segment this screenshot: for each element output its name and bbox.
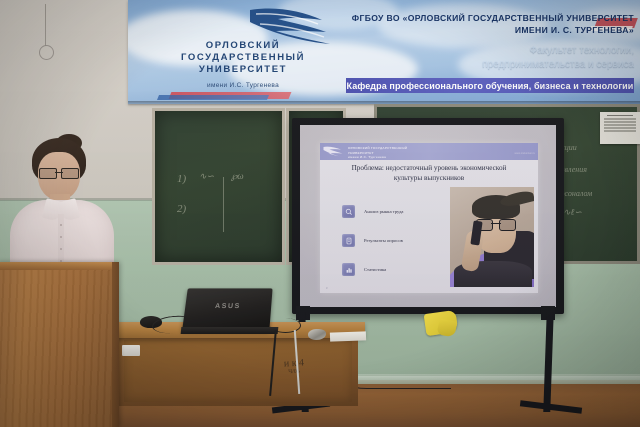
slide-bullet-label: Статистика bbox=[364, 267, 386, 272]
slide-bullet-item: Анализ рынка труда bbox=[342, 205, 452, 218]
logo-blue-accent bbox=[157, 95, 269, 100]
chalk-scribble: ℘ω bbox=[231, 171, 244, 182]
classroom-photo-scene: ОРЛОВСКИЙ ГОСУДАРСТВЕННЫЙ УНИВЕРСИТЕТ им… bbox=[0, 0, 640, 427]
slide-bullet-label: Результаты опросов bbox=[364, 238, 403, 243]
desk-panel bbox=[124, 340, 352, 402]
notice-line bbox=[604, 130, 636, 131]
magnifier-icon bbox=[342, 205, 355, 218]
logo-subtitle: имени И.С. Тургенева bbox=[132, 82, 354, 89]
laptop-base bbox=[181, 327, 279, 334]
slide-title-line-1: Проблема: недостаточный уровень экономич… bbox=[328, 163, 530, 173]
banner-title-line-1: ФГБОУ ВО «ОРЛОВСКИЙ ГОСУДАРСТВЕННЫЙ УНИВ… bbox=[338, 12, 634, 24]
notice-title-line bbox=[607, 115, 633, 116]
logo-line-2: ГОСУДАРСТВЕННЫЙ bbox=[132, 52, 354, 64]
presenter-lens-right bbox=[61, 168, 79, 179]
podium-wood-grain bbox=[0, 262, 118, 427]
chalk-mark: 1) bbox=[177, 173, 186, 185]
slide-bullet-label: Анализ рынка труда bbox=[364, 209, 403, 214]
woman-presenter bbox=[8, 138, 116, 278]
photo-lens-right bbox=[499, 219, 516, 231]
logo-line-1: ОРЛОВСКИЙ bbox=[132, 40, 354, 52]
slide-bullet-item: Результаты опросов bbox=[342, 234, 452, 247]
slide-bullet-list: Анализ рынка труда Результаты опросов bbox=[342, 205, 452, 292]
banner-department-bar: Кафедра профессионального обучения, бизн… bbox=[346, 78, 634, 93]
notice-line bbox=[604, 121, 636, 122]
university-banner: ОРЛОВСКИЙ ГОСУДАРСТВЕННЫЙ УНИВЕРСИТЕТ им… bbox=[128, 0, 640, 104]
banner-title-line-2: ИМЕНИ И. С. ТУРГЕНЕВА» bbox=[338, 24, 634, 36]
slide-header: ОРЛОВСКИЙ ГОСУДАРСТВЕННЫЙ УНИВЕРСИТЕТ им… bbox=[320, 143, 538, 160]
notice-line bbox=[604, 127, 636, 128]
slide-title-line-2: культуры выпускников bbox=[328, 173, 530, 183]
university-logo-text: ОРЛОВСКИЙ ГОСУДАРСТВЕННЫЙ УНИВЕРСИТЕТ bbox=[132, 40, 354, 76]
laptop-brand-label: ASUS bbox=[215, 303, 242, 310]
projection-screen[interactable]: ОРЛОВСКИЙ ГОСУДАРСТВЕННЫЙ УНИВЕРСИТЕТ им… bbox=[292, 118, 564, 314]
slide-photo bbox=[450, 187, 534, 287]
podium-top-edge bbox=[0, 262, 118, 270]
slide-title: Проблема: недостаточный уровень экономич… bbox=[328, 163, 530, 184]
slide-url: www.oreluniver.ru bbox=[515, 152, 535, 155]
logo-line-3: УНИВЕРСИТЕТ bbox=[132, 64, 354, 76]
chalkboard-left: 1) 2) ∿∽ ℘ω bbox=[152, 108, 285, 265]
chalk-line bbox=[223, 177, 224, 232]
notice-line bbox=[604, 118, 636, 119]
white-box-object[interactable] bbox=[122, 345, 140, 356]
slide-bullet-item: Статистика bbox=[342, 263, 452, 276]
presentation-slide: ОРЛОВСКИЙ ГОСУДАРСТВЕННЫЙ УНИВЕРСИТЕТ им… bbox=[320, 143, 538, 293]
banner-faculty-line-2: предпринимательства и сервиса bbox=[338, 58, 634, 72]
banner-logo-block: ОРЛОВСКИЙ ГОСУДАРСТВЕННЫЙ УНИВЕРСИТЕТ им… bbox=[128, 0, 358, 104]
banner-faculty: Факультет технологии, предпринимательств… bbox=[338, 44, 634, 71]
chalk-scribble: ∿ℓ∽ bbox=[563, 207, 582, 218]
chalk-scribble: ∿∽ bbox=[199, 171, 214, 182]
bar-chart-icon bbox=[342, 263, 355, 276]
slide-logo-line-1: ОРЛОВСКИЙ ГОСУДАРСТВЕННЫЙ bbox=[348, 146, 407, 151]
banner-title: ФГБОУ ВО «ОРЛОВСКИЙ ГОСУДАРСТВЕННЫЙ УНИВ… bbox=[338, 12, 634, 37]
slide-logo-line-3: имени И.С. Тургенева bbox=[348, 155, 407, 160]
banner-faculty-line-1: Факультет технологии, bbox=[338, 44, 634, 58]
wooden-podium bbox=[0, 262, 118, 427]
banner-text-block: ФГБОУ ВО «ОРЛОВСКИЙ ГОСУДАРСТВЕННЫЙ УНИВ… bbox=[336, 6, 636, 104]
window-blind-cord[interactable] bbox=[45, 4, 46, 46]
desk-graffiti: и к 4 Ч/05 bbox=[284, 357, 305, 375]
clipboard-icon bbox=[342, 234, 355, 247]
podium-side-edge bbox=[112, 262, 119, 427]
paper-sheet[interactable] bbox=[330, 331, 366, 341]
presenter-glasses-icon bbox=[38, 168, 80, 177]
notice-line bbox=[604, 124, 636, 125]
window-blind-cord-ring[interactable] bbox=[39, 45, 54, 60]
chalk-mark: 2) bbox=[177, 203, 186, 215]
slide-bird-icon bbox=[323, 145, 345, 157]
slide-page-number: 3 bbox=[326, 287, 327, 290]
presenter-lens-left bbox=[39, 168, 57, 179]
desk-graffiti-text: и к 4 bbox=[284, 357, 305, 369]
slide-logo-text: ОРЛОВСКИЙ ГОСУДАРСТВЕННЫЙ УНИВЕРСИТЕТ им… bbox=[348, 146, 407, 160]
projection-surface: ОРЛОВСКИЙ ГОСУДАРСТВЕННЫЙ УНИВЕРСИТЕТ им… bbox=[300, 125, 556, 307]
notice-paper bbox=[600, 112, 640, 144]
